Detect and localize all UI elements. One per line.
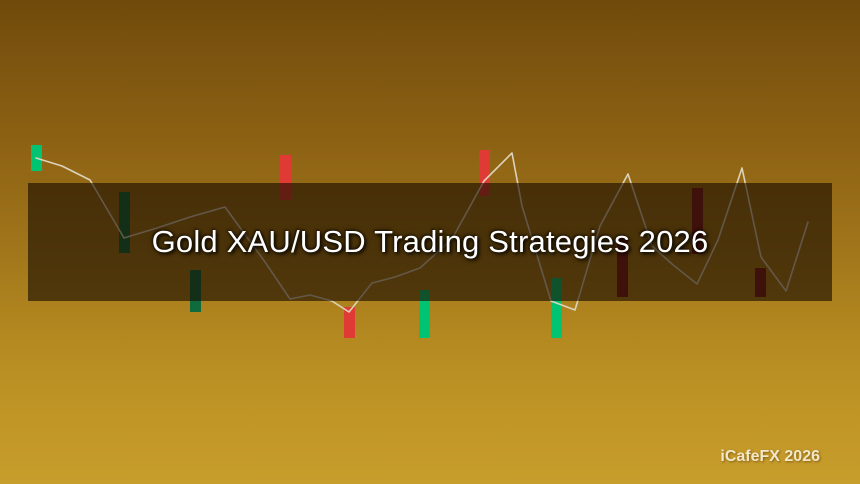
page-title: Gold XAU/USD Trading Strategies 2026	[152, 224, 709, 260]
brand-watermark: iCafeFX 2026	[720, 448, 820, 466]
title-overlay-band: Gold XAU/USD Trading Strategies 2026	[28, 183, 832, 301]
poster-canvas: Gold XAU/USD Trading Strategies 2026 iCa…	[0, 0, 860, 484]
